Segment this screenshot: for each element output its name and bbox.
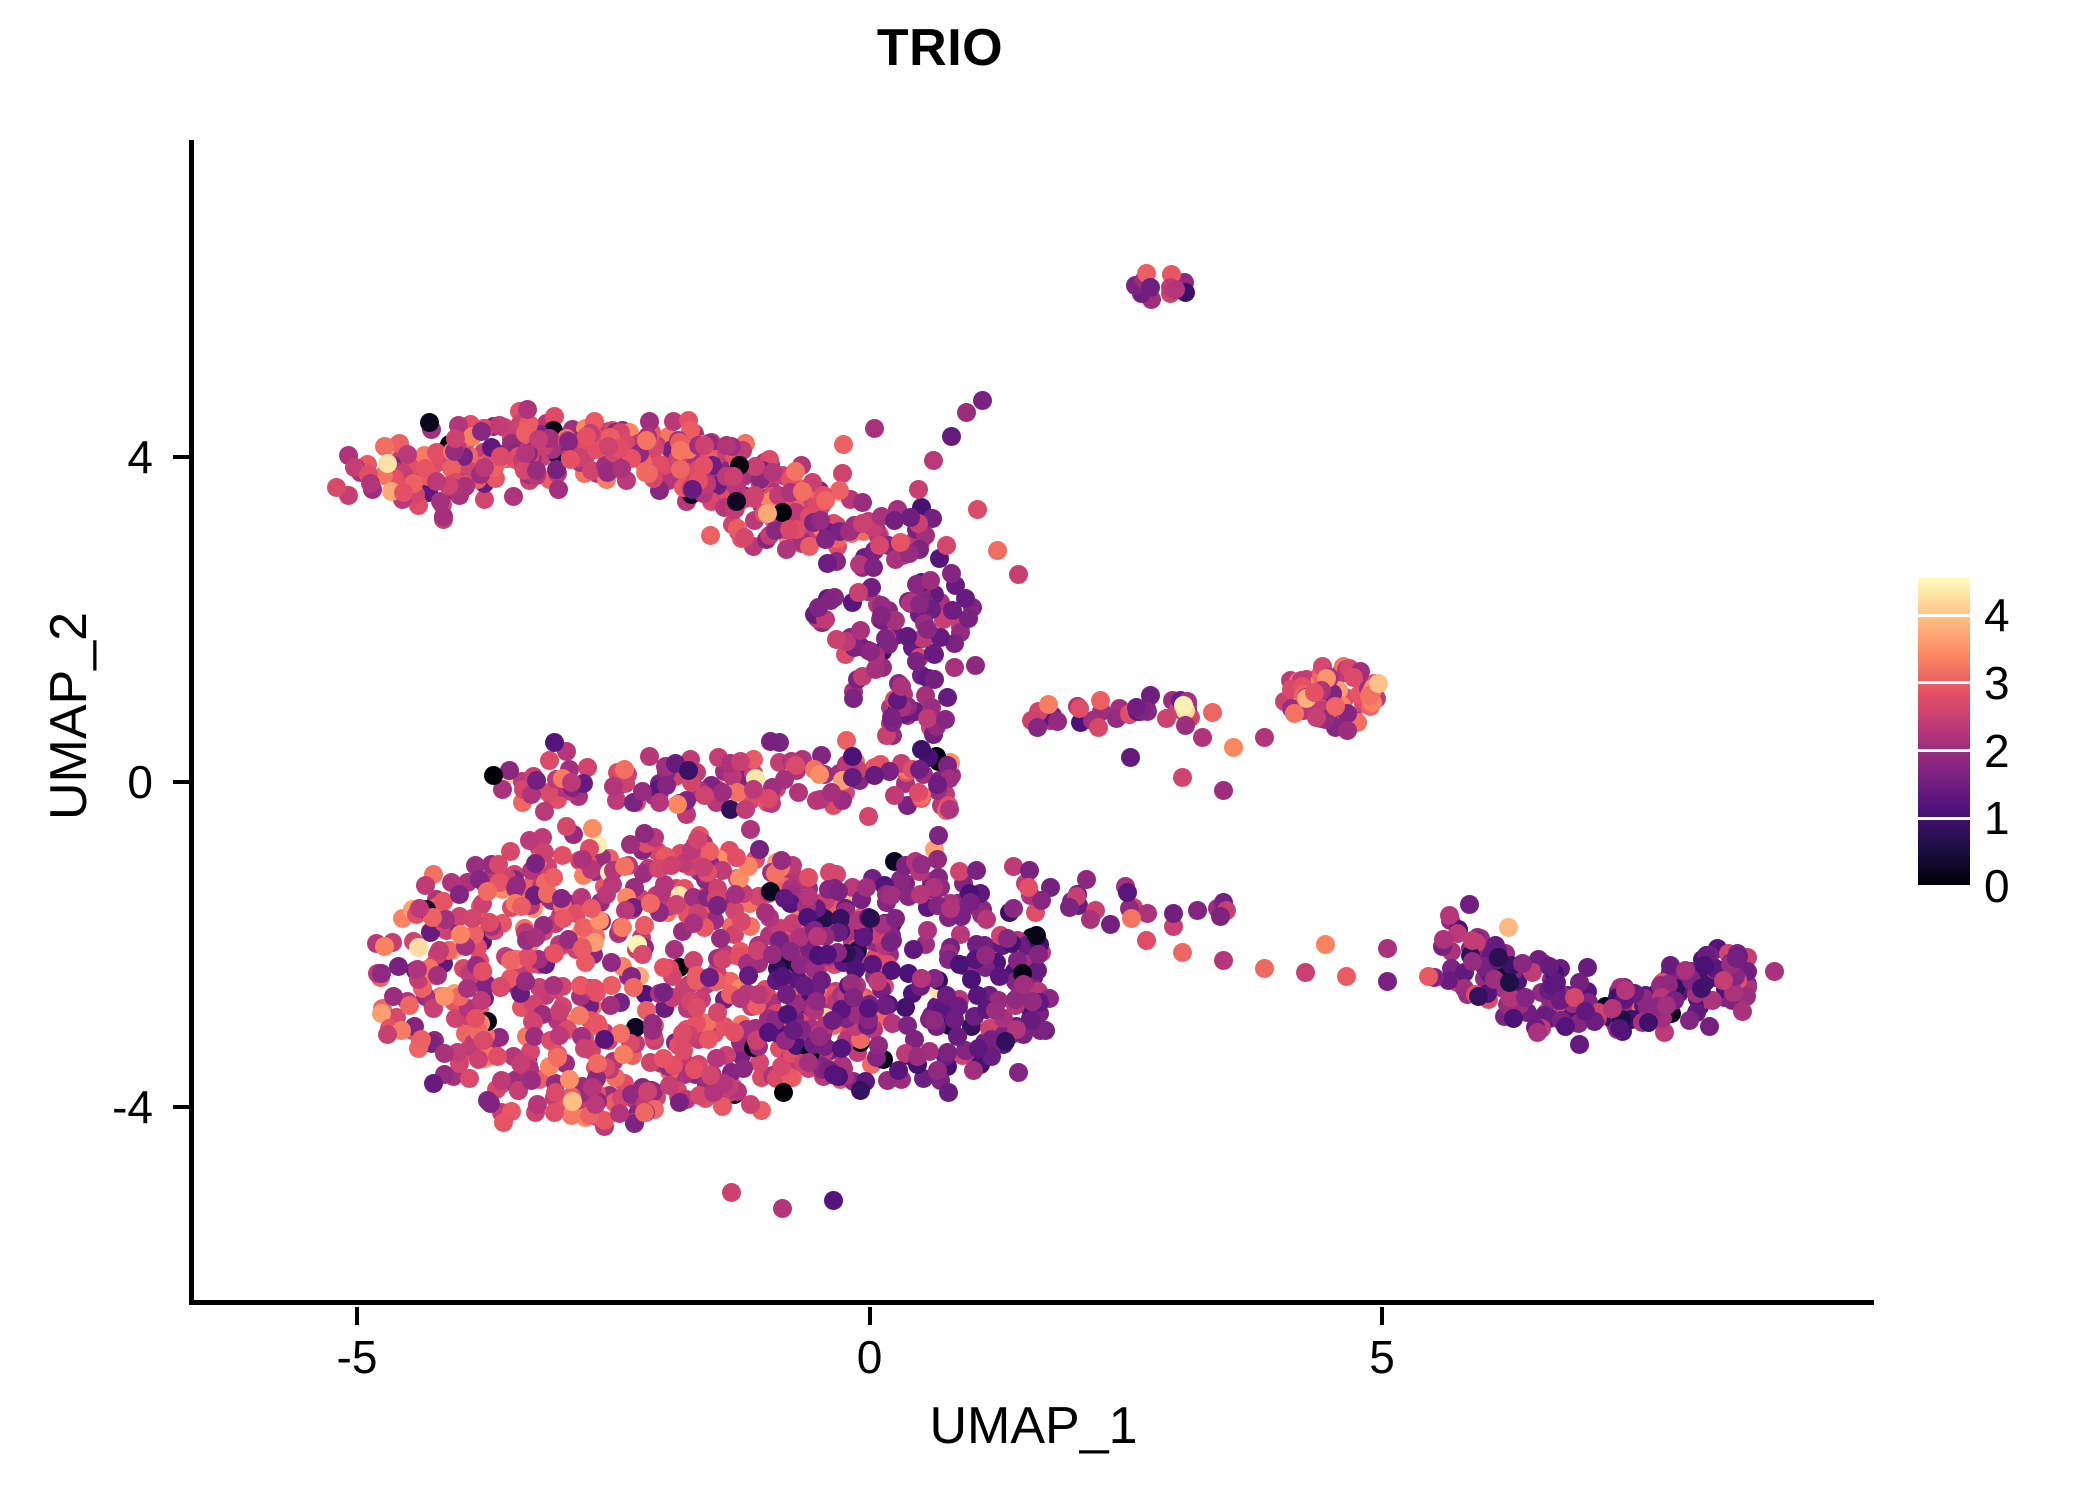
scatter-point	[904, 940, 923, 959]
scatter-point	[843, 747, 862, 766]
colorbar-tick-mark	[1918, 614, 1970, 617]
scatter-point	[735, 528, 754, 547]
chart-root: TRIO -404 -505 UMAP_1 UMAP_2 01234	[0, 0, 2100, 1500]
scatter-point	[734, 1059, 753, 1078]
scatter-point	[552, 889, 571, 908]
scatter-point	[1419, 967, 1438, 986]
scatter-point	[727, 848, 746, 867]
scatter-point	[1118, 883, 1137, 902]
scatter-point	[583, 819, 602, 838]
colorbar-gradient	[1918, 578, 1970, 886]
scatter-point	[424, 1074, 443, 1093]
scatter-point	[1029, 945, 1048, 964]
scatter-point	[784, 1021, 803, 1040]
y-tick-mark	[173, 780, 191, 784]
scatter-point	[701, 526, 720, 545]
scatter-point	[654, 1049, 673, 1068]
scatter-point	[1576, 1002, 1595, 1021]
scatter-point	[375, 937, 394, 956]
scatter-point	[844, 988, 863, 1007]
scatter-point	[602, 953, 621, 972]
scatter-point	[912, 740, 931, 759]
scatter-point	[674, 1041, 693, 1060]
scatter-point	[398, 445, 417, 464]
scatter-point	[1019, 878, 1038, 897]
scatter-point	[777, 985, 796, 1004]
scatter-point	[722, 1183, 741, 1202]
scatter-point	[679, 761, 698, 780]
scatter-point	[918, 620, 937, 639]
scatter-point	[896, 998, 915, 1017]
scatter-point	[886, 909, 905, 928]
scatter-point	[869, 1036, 888, 1055]
page-title: TRIO	[0, 22, 1880, 74]
scatter-point	[494, 1113, 513, 1132]
scatter-point	[683, 480, 702, 499]
scatter-point	[966, 656, 985, 675]
scatter-point	[950, 955, 969, 974]
scatter-point	[469, 1050, 488, 1069]
scatter-point	[849, 583, 868, 602]
colorbar-legend: 01234	[1918, 578, 2078, 908]
scatter-point	[870, 536, 889, 555]
scatter-point	[1048, 712, 1067, 731]
x-tick-mark	[1380, 1307, 1384, 1325]
scatter-point	[713, 783, 732, 802]
scatter-point	[372, 964, 391, 983]
scatter-point	[1121, 748, 1140, 767]
colorbar-tick-label: 2	[1984, 728, 2064, 774]
scatter-point	[643, 1014, 662, 1033]
y-tick-label: -4	[33, 1084, 153, 1130]
scatter-point	[1338, 721, 1357, 740]
scatter-point	[1296, 963, 1315, 982]
scatter-point	[553, 846, 572, 865]
scatter-point	[583, 1078, 602, 1097]
scatter-point	[1469, 987, 1488, 1006]
scatter-point	[635, 916, 654, 935]
scatter-point	[717, 436, 736, 455]
colorbar-tick-label: 1	[1984, 795, 2064, 841]
scatter-point	[1137, 931, 1156, 950]
scatter-point	[834, 435, 853, 454]
scatter-point	[882, 886, 901, 905]
scatter-point	[942, 427, 961, 446]
scatter-point	[435, 987, 454, 1006]
scatter-point	[1089, 718, 1108, 737]
scatter-point	[816, 491, 835, 510]
scatter-point	[701, 1066, 720, 1085]
scatter-point	[763, 945, 782, 964]
scatter-point	[781, 942, 800, 961]
scatter-point	[909, 783, 928, 802]
scatter-point	[777, 540, 796, 559]
x-axis-line	[189, 1300, 1874, 1305]
scatter-point	[1463, 931, 1482, 950]
scatter-point	[475, 490, 494, 509]
scatter-point	[561, 450, 580, 469]
scatter-point	[1188, 901, 1207, 920]
scatter-point	[488, 1047, 507, 1066]
scatter-point	[1009, 1063, 1028, 1082]
scatter-point	[546, 1083, 565, 1102]
scatter-point	[818, 554, 837, 573]
scatter-point	[1255, 728, 1274, 747]
scatter-point	[707, 1049, 726, 1068]
scatter-point	[964, 1061, 983, 1080]
scatter-point	[378, 1025, 397, 1044]
scatter-point	[1028, 718, 1047, 737]
scatter-point	[824, 1191, 843, 1210]
scatter-point	[1727, 949, 1746, 968]
scatter-point	[1500, 973, 1519, 992]
scatter-point	[490, 416, 509, 435]
scatter-point	[948, 1027, 967, 1046]
scatter-point	[1680, 1011, 1699, 1030]
scatter-point	[545, 1103, 564, 1122]
scatter-point	[1337, 967, 1356, 986]
scatter-point	[739, 966, 758, 985]
scatter-point	[786, 462, 805, 481]
x-tick-label: -5	[277, 1334, 437, 1380]
scatter-point	[1460, 895, 1479, 914]
scatter-point	[466, 1009, 485, 1028]
scatter-point	[400, 996, 419, 1015]
scatter-point	[420, 413, 439, 432]
scatter-point	[361, 474, 380, 493]
scatter-point	[925, 645, 944, 664]
scatter-point	[725, 1023, 744, 1042]
scatter-point	[668, 795, 687, 814]
x-axis-label: UMAP_1	[193, 1400, 1874, 1452]
scatter-point	[650, 793, 669, 812]
scatter-point	[544, 868, 563, 887]
colorbar-tick-mark	[1918, 817, 1970, 820]
y-tick-mark	[173, 1105, 191, 1109]
colorbar-tick-mark	[1918, 749, 1970, 752]
scatter-point	[889, 1061, 908, 1080]
scatter-point	[528, 1095, 547, 1114]
x-tick-label: 5	[1302, 1334, 1462, 1380]
scatter-point	[535, 802, 554, 821]
scatter-point	[446, 429, 465, 448]
scatter-point	[1224, 738, 1243, 757]
scatter-point	[615, 760, 634, 779]
scatter-point	[1610, 1019, 1629, 1038]
scatter-point	[549, 480, 568, 499]
scatter-point	[763, 463, 782, 482]
scatter-point	[1528, 1023, 1547, 1042]
scatter-point	[639, 464, 658, 483]
scatter-point	[1101, 915, 1120, 934]
scatter-point	[928, 775, 947, 794]
scatter-point	[577, 427, 596, 446]
scatter-point	[1214, 951, 1233, 970]
scatter-point	[559, 432, 578, 451]
scatter-point	[573, 850, 592, 869]
scatter-point	[641, 894, 660, 913]
scatter-point	[925, 670, 944, 689]
scatter-point	[1127, 698, 1146, 717]
scatter-point	[520, 831, 539, 850]
scatter-point	[687, 998, 706, 1017]
scatter-point	[844, 689, 863, 708]
scatter-point	[969, 1039, 988, 1058]
scatter-point	[774, 1083, 793, 1102]
scatter-point	[554, 909, 573, 928]
scatter-point	[474, 1031, 493, 1050]
scatter-point	[833, 464, 852, 483]
scatter-point	[938, 688, 957, 707]
scatter-point	[865, 419, 884, 438]
scatter-point	[613, 918, 632, 937]
scatter-point	[563, 1092, 582, 1111]
scatter-point	[492, 1071, 511, 1090]
scatter-point	[872, 606, 891, 625]
scatter-point	[937, 986, 956, 1005]
scatter-point	[1700, 1017, 1719, 1036]
scatter-point	[586, 1095, 605, 1114]
colorbar-tick-mark	[1918, 681, 1970, 684]
x-tick-label: 0	[790, 1334, 950, 1380]
scatter-point	[673, 1024, 692, 1043]
scatter-point	[458, 979, 477, 998]
scatter-point	[967, 861, 986, 880]
scatter-point	[851, 621, 870, 640]
scatter-point	[799, 1053, 818, 1072]
scatter-point	[988, 541, 1007, 560]
scatter-point	[638, 1082, 657, 1101]
scatter-point	[998, 929, 1017, 948]
scatter-point	[968, 500, 987, 519]
scatter-point	[1657, 996, 1676, 1015]
scatter-point	[527, 461, 546, 480]
scatter-point	[741, 820, 760, 839]
scatter-point	[918, 921, 937, 940]
scatter-point	[859, 807, 878, 826]
scatter-point	[1616, 981, 1635, 1000]
scatter-point	[1695, 956, 1714, 975]
scatter-point	[1285, 704, 1304, 723]
scatter-point	[756, 903, 775, 922]
scatter-point	[481, 1094, 500, 1113]
scatter-point	[614, 1045, 633, 1064]
scatter-point	[491, 977, 510, 996]
scatter-point	[1676, 961, 1695, 980]
scatter-point	[921, 571, 940, 590]
scatter-point	[504, 487, 523, 506]
scatter-point	[824, 1065, 843, 1084]
scatter-point	[1344, 668, 1363, 687]
scatter-point	[491, 447, 510, 466]
scatter-point	[976, 946, 995, 965]
scatter-point	[939, 1083, 958, 1102]
scatter-point	[750, 840, 769, 859]
scatter-point	[1255, 959, 1274, 978]
scatter-point	[727, 492, 746, 511]
scatter-point	[595, 1030, 614, 1049]
scatter-point	[612, 459, 631, 478]
scatter-point	[808, 927, 827, 946]
scatter-point	[1157, 709, 1176, 728]
scatter-point	[670, 1093, 689, 1112]
scatter-point	[854, 928, 873, 947]
scatter-point	[451, 925, 470, 944]
scatter-point	[427, 472, 446, 491]
scatter-point	[1176, 716, 1195, 735]
x-tick-mark	[868, 1307, 872, 1325]
y-axis-label: UMAP_2	[43, 416, 95, 1016]
scatter-point	[1603, 999, 1622, 1018]
scatter-point	[550, 1002, 569, 1021]
scatter-point	[478, 882, 497, 901]
scatter-point	[1164, 904, 1183, 923]
scatter-point	[688, 830, 707, 849]
scatter-point	[773, 1199, 792, 1218]
scatter-point	[1009, 565, 1028, 584]
scatter-point	[599, 437, 618, 456]
scatter-point	[1122, 909, 1141, 928]
scatter-point	[450, 885, 469, 904]
scatter-point	[1714, 971, 1733, 990]
scatter-point	[695, 436, 714, 455]
scatter-point	[861, 909, 880, 928]
scatter-point	[941, 899, 960, 918]
scatter-point	[501, 951, 520, 970]
scatter-point	[1570, 1035, 1589, 1054]
scatter-point	[1504, 1009, 1523, 1028]
scatter-point	[1091, 691, 1110, 710]
scatter-point	[1326, 697, 1345, 716]
scatter-point	[635, 1103, 654, 1122]
y-tick-mark	[173, 455, 191, 459]
scatter-point	[616, 901, 635, 920]
scatter-point	[610, 1104, 629, 1123]
x-tick-mark	[355, 1307, 359, 1325]
scatter-point	[409, 938, 428, 957]
scatter-point	[633, 945, 652, 964]
scatter-point	[378, 454, 397, 473]
scatter-point	[1211, 907, 1230, 926]
scatter-point	[891, 533, 910, 552]
colorbar-tick-label: 4	[1984, 592, 2064, 638]
scatter-point	[1316, 935, 1335, 954]
colorbar-tick-label: 0	[1984, 863, 2064, 909]
scatter-point	[480, 913, 499, 932]
scatter-point	[857, 878, 876, 897]
scatter-point	[540, 751, 559, 770]
scatter-point	[823, 1011, 842, 1030]
scatter-point	[832, 1039, 851, 1058]
scatter-point	[996, 1032, 1015, 1051]
plot-panel	[193, 140, 1874, 1302]
scatter-point	[527, 771, 546, 790]
scatter-point	[633, 782, 652, 801]
scatter-point	[864, 558, 883, 577]
scatter-point	[936, 710, 955, 729]
scatter-point	[851, 1081, 870, 1100]
scatter-point	[624, 978, 643, 997]
scatter-point	[907, 652, 926, 671]
scatter-point	[977, 910, 996, 929]
scatter-point	[1369, 674, 1388, 693]
y-axis-line	[189, 140, 194, 1305]
scatter-point	[713, 950, 732, 969]
scatter-point	[660, 1076, 679, 1095]
scatter-point	[516, 972, 535, 991]
scatter-point	[667, 895, 686, 914]
scatter-point	[928, 850, 947, 869]
scatter-point	[1027, 926, 1046, 945]
scatter-point	[1081, 910, 1100, 929]
scatter-point	[793, 482, 812, 501]
scatter-point	[1004, 899, 1023, 918]
scatter-point	[1193, 728, 1212, 747]
scatter-point	[615, 857, 634, 876]
scatter-point	[1540, 957, 1559, 976]
scatter-point	[726, 885, 745, 904]
scatter-point	[924, 451, 943, 470]
scatter-point	[775, 889, 794, 908]
scatter-point	[937, 536, 956, 555]
scatter-point	[695, 786, 714, 805]
scatter-point	[327, 478, 346, 497]
scatter-point	[799, 868, 818, 887]
scatter-point	[430, 941, 449, 960]
scatter-points-layer	[193, 140, 1874, 1302]
scatter-point	[1203, 703, 1222, 722]
scatter-point	[865, 766, 884, 785]
scatter-point	[973, 391, 992, 410]
scatter-point	[545, 733, 564, 752]
scatter-point	[731, 752, 750, 771]
scatter-point	[745, 486, 764, 505]
scatter-point	[810, 765, 829, 784]
scatter-point	[699, 1030, 718, 1049]
scatter-point	[945, 658, 964, 677]
scatter-point	[1499, 918, 1518, 937]
scatter-point	[640, 747, 659, 766]
scatter-point	[1378, 939, 1397, 958]
colorbar-tick-mark	[1918, 885, 1970, 888]
scatter-point	[671, 460, 690, 479]
scatter-point	[428, 966, 447, 985]
scatter-point	[1141, 278, 1160, 297]
scatter-point	[940, 800, 959, 819]
scatter-point	[736, 800, 755, 819]
scatter-point	[1378, 972, 1397, 991]
scatter-point	[662, 856, 681, 875]
scatter-point	[585, 979, 604, 998]
scatter-point	[1556, 1017, 1575, 1036]
scatter-point	[484, 766, 503, 785]
scatter-point	[550, 1026, 569, 1045]
scatter-point	[898, 627, 917, 646]
scatter-point	[412, 1030, 431, 1049]
scatter-point	[570, 1006, 589, 1025]
scatter-point	[1765, 962, 1784, 981]
scatter-point	[601, 996, 620, 1015]
scatter-point	[665, 940, 684, 959]
scatter-point	[938, 1043, 957, 1062]
scatter-point	[1214, 781, 1233, 800]
scatter-point	[711, 929, 730, 948]
scatter-point	[761, 732, 780, 751]
colorbar-tick-label: 3	[1984, 660, 2064, 706]
scatter-point	[724, 467, 743, 486]
scatter-point	[473, 962, 492, 981]
scatter-point	[518, 948, 537, 967]
